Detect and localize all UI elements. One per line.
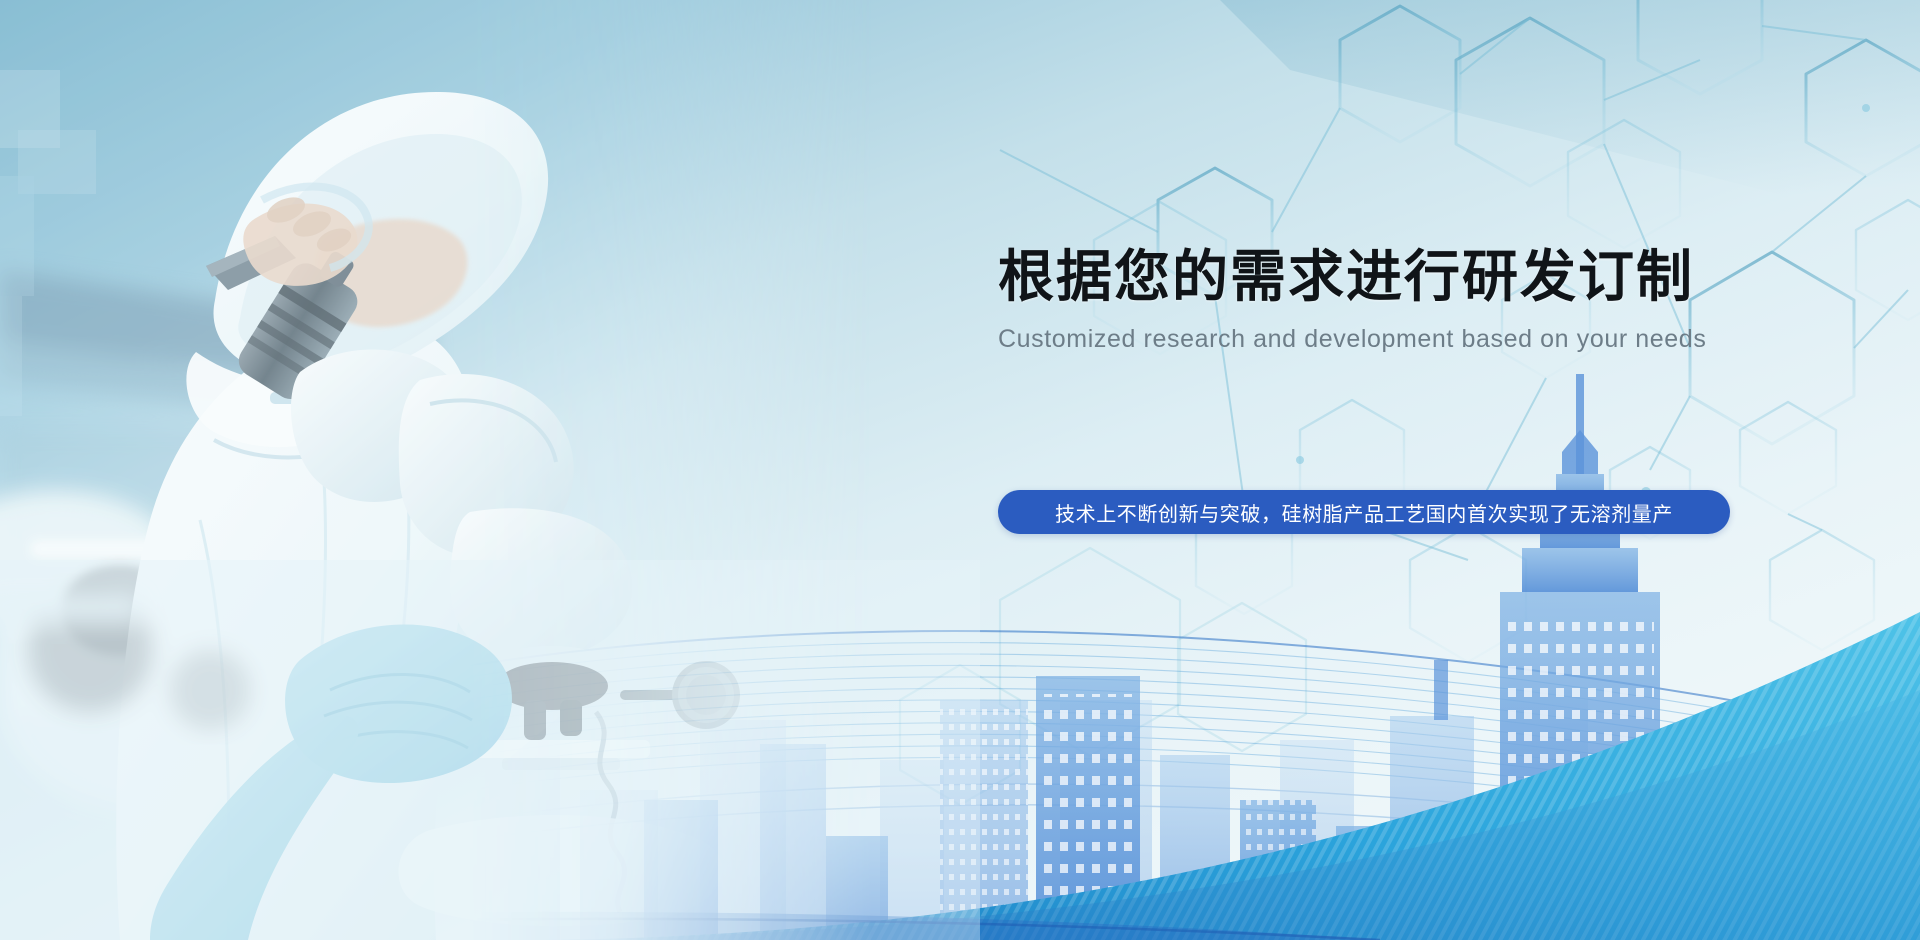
highlight-badge-label: 技术上不断创新与突破，硅树脂产品工艺国内首次实现了无溶剂量产 (1055, 498, 1673, 527)
page-title: 根据您的需求进行研发订制 (998, 246, 1758, 309)
page-subtitle: Customized research and development base… (998, 325, 1758, 354)
highlight-badge: 技术上不断创新与突破，硅树脂产品工艺国内首次实现了无溶剂量产 (998, 490, 1730, 534)
hero-text-block: 根据您的需求进行研发订制 Customized research and dev… (998, 246, 1758, 354)
scientist-microscope-photo (0, 0, 900, 940)
hero-banner: 根据您的需求进行研发订制 Customized research and dev… (0, 0, 1920, 940)
